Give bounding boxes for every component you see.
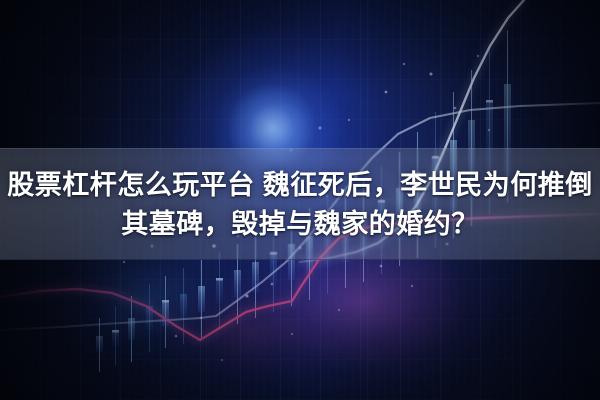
sparkle-dot bbox=[200, 317, 202, 319]
sparkle-dot bbox=[123, 261, 125, 263]
sparkle-dot bbox=[221, 359, 223, 361]
candle-body bbox=[180, 294, 187, 318]
stock-market-banner: 股票杠杆怎么玩平台 魏征死后，李世民为何推倒 其墓碑，毁掉与魏家的婚约？ bbox=[0, 0, 600, 400]
sparkle-dot bbox=[385, 91, 388, 94]
sparkle-dot bbox=[291, 333, 293, 335]
sparkle-dot bbox=[338, 309, 340, 311]
sparkle-dot bbox=[430, 73, 433, 76]
candle-highlight bbox=[112, 330, 119, 333]
title-line-2: 其墓碑，毁掉与魏家的婚约？ bbox=[121, 207, 479, 242]
sparkle-dot bbox=[488, 129, 490, 131]
candle-body bbox=[96, 336, 103, 352]
sparkle-dot bbox=[246, 295, 249, 298]
sparkle-dot bbox=[271, 283, 274, 286]
sparkle-dot bbox=[380, 265, 383, 268]
candle-body bbox=[216, 278, 223, 304]
sparkle-dot bbox=[175, 335, 178, 338]
sparkle-dot bbox=[319, 127, 322, 130]
banner-title: 股票杠杆怎么玩平台 魏征死后，李世民为何推倒 其墓碑，毁掉与魏家的婚约？ bbox=[0, 150, 600, 260]
candle-body bbox=[234, 270, 241, 298]
candle-highlight bbox=[162, 300, 169, 303]
band-top-border bbox=[0, 148, 600, 149]
candle-highlight bbox=[216, 278, 223, 281]
sparkle-dot bbox=[454, 107, 457, 110]
candle-body bbox=[198, 286, 205, 312]
sparkle-dot bbox=[477, 55, 479, 57]
sparkle-dot bbox=[348, 119, 350, 121]
sparkle-dot bbox=[403, 63, 405, 65]
title-line-1: 股票杠杆怎么玩平台 魏征死后，李世民为何推倒 bbox=[7, 168, 593, 203]
sparkle-dot bbox=[411, 285, 413, 287]
candle-highlight bbox=[486, 100, 493, 103]
